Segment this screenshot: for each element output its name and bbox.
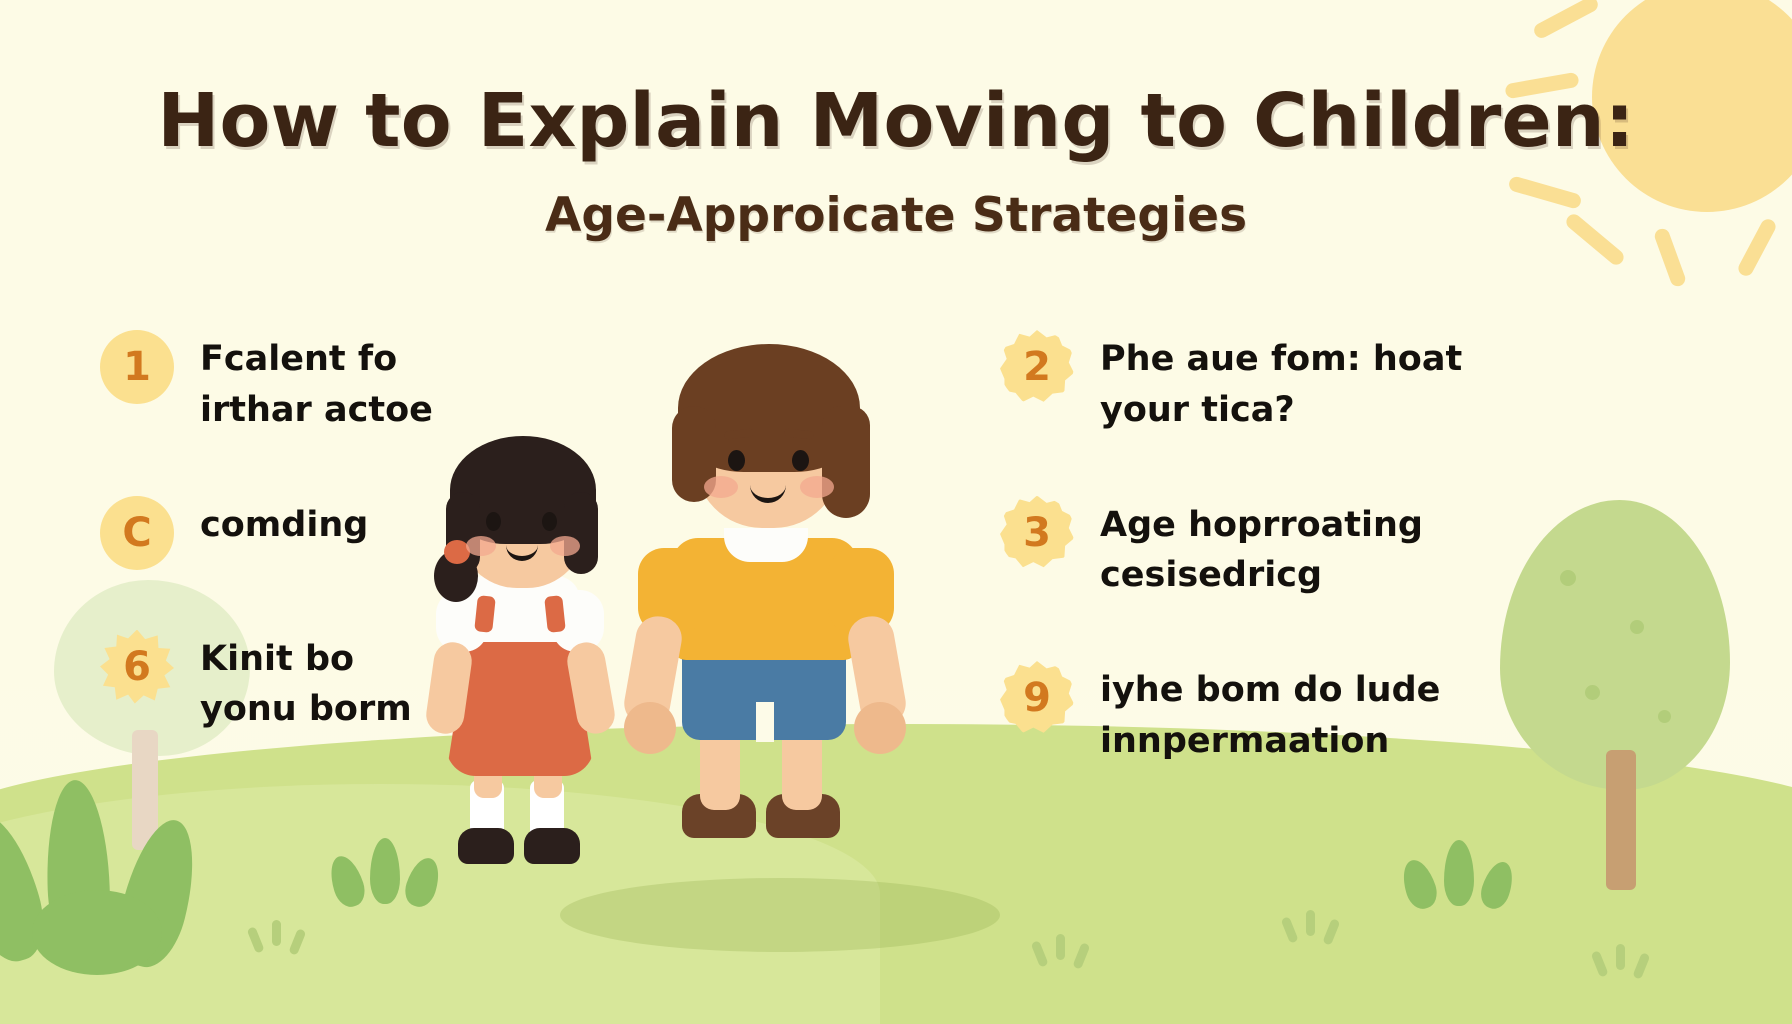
leaf-dot <box>1560 570 1576 586</box>
list-item-text: Phe aue fom: hoat your tica? <box>1100 330 1462 436</box>
shorts-gap <box>756 702 774 742</box>
list-item-line: comding <box>200 500 368 551</box>
boy-character <box>620 310 950 870</box>
list-item-line: yonu borm <box>200 684 412 735</box>
eye <box>728 450 745 471</box>
tree-icon <box>1490 500 1750 860</box>
page-title: How to Explain Moving to Children: <box>0 78 1792 164</box>
step-badge: 9 <box>1000 661 1074 735</box>
cheek <box>800 476 834 498</box>
list-item[interactable]: 1 Fcalent fo irthar actoe <box>100 330 570 436</box>
list-item[interactable]: C comding <box>100 496 570 570</box>
right-column: 2 Phe aue fom: hoat your tica? 3 Age hop… <box>1000 330 1470 827</box>
list-item-text: iyhe bom do lude innpermaation <box>1100 661 1440 767</box>
list-item-line: Fcalent fo <box>200 334 433 385</box>
leaf-dot <box>1630 620 1644 634</box>
list-item-line: innpermaation <box>1100 716 1440 767</box>
list-item[interactable]: 2 Phe aue fom: hoat your tica? <box>1000 330 1470 436</box>
ground-shadow <box>560 878 1000 952</box>
list-item[interactable]: 6 Kinit bo yonu borm <box>100 630 570 736</box>
collar <box>724 528 808 562</box>
eye <box>792 450 809 471</box>
badge-number: C <box>122 510 151 556</box>
list-item-line: Age hoprroating <box>1100 500 1423 551</box>
tree-canopy <box>1500 500 1730 790</box>
page-subtitle: Age-Approicate Strategies <box>0 188 1792 243</box>
badge-number: 3 <box>1023 510 1051 556</box>
bush-icon <box>0 770 230 970</box>
hand <box>624 702 676 754</box>
step-badge: 1 <box>100 330 174 404</box>
cheek <box>704 476 738 498</box>
list-item-line: iyhe bom do lude <box>1100 665 1440 716</box>
list-item-text: Fcalent fo irthar actoe <box>200 330 433 436</box>
step-badge: 3 <box>1000 496 1074 570</box>
step-badge: 2 <box>1000 330 1074 404</box>
badge-number: 1 <box>123 344 151 390</box>
list-item-text: comding <box>200 496 368 551</box>
hand <box>854 702 906 754</box>
infographic-poster: How to Explain Moving to Children: Age-A… <box>0 0 1792 1024</box>
list-item-text: Kinit bo yonu borm <box>200 630 412 736</box>
list-item-line: irthar actoe <box>200 385 433 436</box>
badge-number: 2 <box>1023 344 1051 390</box>
badge-number: 9 <box>1023 675 1051 721</box>
shoe <box>458 828 514 864</box>
left-column: 1 Fcalent fo irthar actoe C comding 6 Ki… <box>100 330 570 795</box>
bush-icon <box>1410 838 1520 908</box>
list-item-text: Age hoprroating cesisedricg <box>1100 496 1423 602</box>
step-badge: C <box>100 496 174 570</box>
list-item-line: cesisedricg <box>1100 550 1423 601</box>
list-item-line: your tica? <box>1100 385 1462 436</box>
badge-number: 6 <box>123 644 151 690</box>
leaf-dot <box>1658 710 1671 723</box>
tree-trunk <box>1606 750 1636 890</box>
hair-side <box>822 406 870 518</box>
shoe <box>524 828 580 864</box>
list-item-line: Kinit bo <box>200 634 412 685</box>
leaf-dot <box>1585 685 1600 700</box>
list-item-line: Phe aue fom: hoat <box>1100 334 1462 385</box>
list-item[interactable]: 3 Age hoprroating cesisedricg <box>1000 496 1470 602</box>
step-badge: 6 <box>100 630 174 704</box>
list-item[interactable]: 9 iyhe bom do lude innpermaation <box>1000 661 1470 767</box>
